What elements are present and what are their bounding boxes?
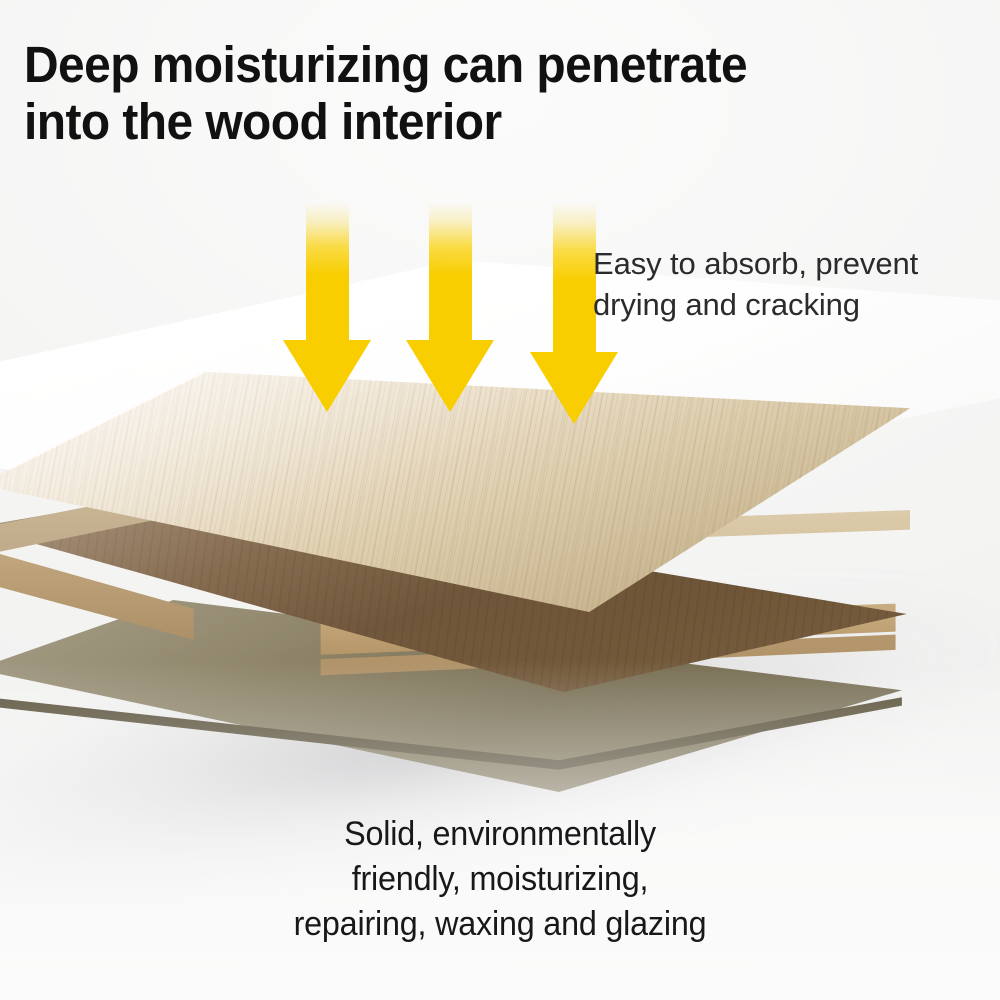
page-title: Deep moisturizing can penetrate into the… (24, 36, 870, 150)
arrow-shaft (553, 202, 596, 354)
side-caption: Easy to absorb, prevent drying and crack… (593, 243, 993, 325)
arrow-shaft (306, 202, 349, 342)
arrow-shaft (429, 202, 472, 342)
arrow-head-down-icon (406, 340, 494, 412)
arrow-head-down-icon (283, 340, 371, 412)
bottom-caption: Solid, environmentally friendly, moistur… (25, 812, 975, 947)
product-feature-poster: Deep moisturizing can penetrate into the… (0, 0, 1000, 1000)
arrow-head-down-icon (530, 352, 618, 424)
